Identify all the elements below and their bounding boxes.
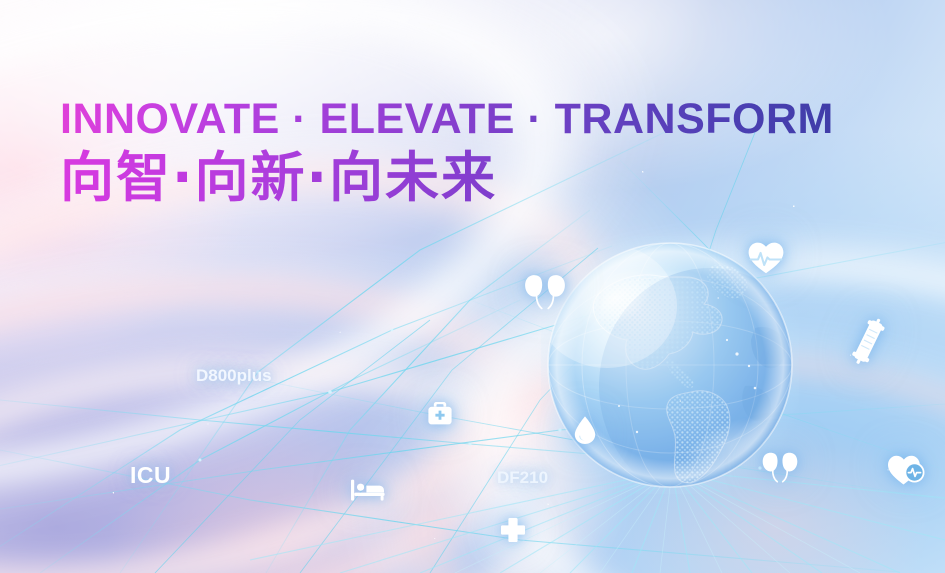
page-title: INNOVATE · ELEVATE · TRANSFORM — [60, 98, 834, 141]
page-subtitle: 向智·向新·向未来 — [60, 149, 834, 207]
dialyzer-icon — [848, 316, 888, 368]
medical-cross-icon — [500, 517, 526, 543]
headline-block: INNOVATE · ELEVATE · TRANSFORM 向智·向新·向未来 — [60, 98, 834, 207]
hospital-bed-icon — [350, 478, 386, 502]
product-label-d800plus: D800plus — [196, 366, 272, 386]
banner-stage: INNOVATE · ELEVATE · TRANSFORM 向智·向新·向未来… — [0, 0, 945, 573]
first-aid-kit-icon — [427, 401, 453, 426]
water-drop-icon — [573, 415, 597, 445]
product-label-df210: DF210 — [497, 468, 548, 488]
product-label-icu: ICU — [130, 462, 171, 489]
heart-pulse-icon — [747, 240, 785, 274]
kidneys-icon — [522, 272, 568, 316]
kidneys-icon — [760, 450, 800, 488]
heart-monitor-icon — [886, 450, 926, 486]
